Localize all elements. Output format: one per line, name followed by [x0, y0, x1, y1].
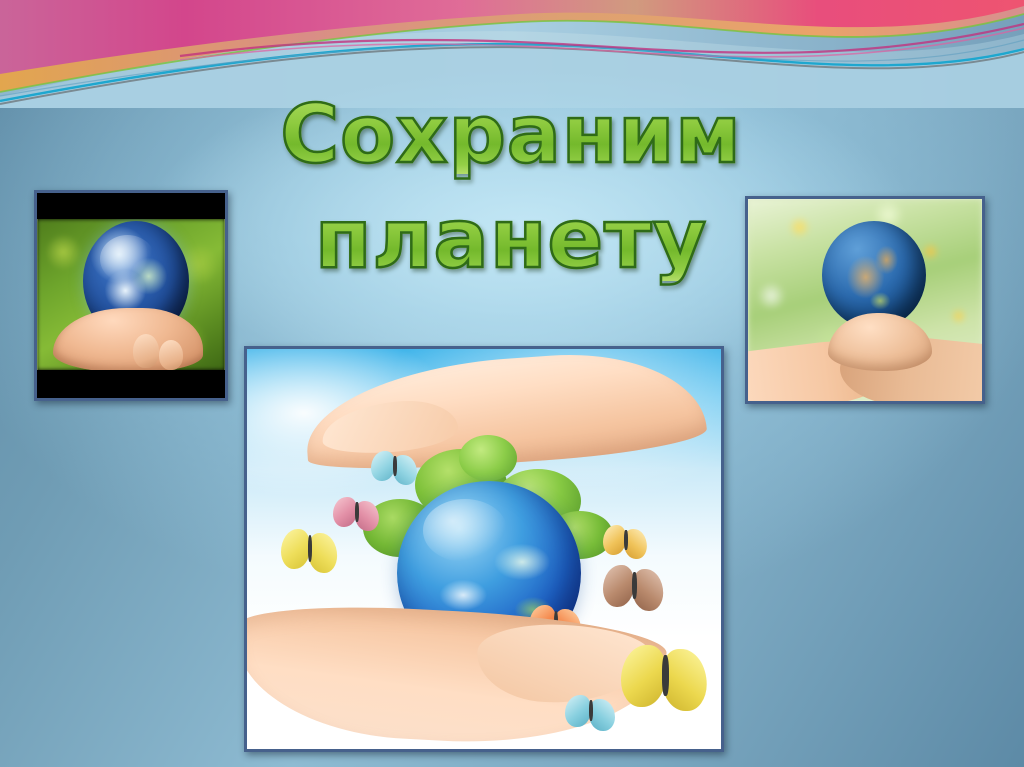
butterfly-icon	[603, 565, 663, 607]
butterfly-wing	[308, 533, 337, 573]
butterfly-icon	[621, 645, 707, 707]
butterfly-body	[589, 700, 593, 721]
photo-two-hands-holding-globe[interactable]	[745, 196, 985, 404]
finger-shape	[133, 334, 159, 368]
butterfly-wing	[565, 695, 591, 727]
photo-earth-in-hand[interactable]	[34, 190, 228, 401]
butterfly-body	[624, 530, 628, 550]
butterfly-icon	[565, 695, 615, 727]
photo-hands-protecting-globe-content	[247, 349, 721, 749]
butterfly-wing	[603, 525, 626, 555]
presentation-slide: Сохраним планету	[0, 0, 1024, 767]
butterfly-wing	[371, 451, 395, 481]
butterfly-body	[632, 572, 637, 600]
finger-shape	[159, 340, 183, 370]
butterfly-wing	[621, 645, 666, 707]
letterbox-bar-bottom	[37, 370, 225, 398]
photo-hands-protecting-globe[interactable]	[244, 346, 724, 752]
butterfly-wing	[603, 565, 634, 607]
butterfly-body	[662, 655, 669, 696]
butterfly-icon	[603, 525, 647, 555]
butterfly-icon	[281, 529, 337, 569]
butterfly-body	[355, 502, 359, 522]
letterbox-bar-top	[37, 193, 225, 219]
butterfly-wing	[333, 497, 357, 527]
tree-icon	[459, 435, 517, 481]
butterfly-wing	[281, 529, 310, 569]
butterfly-icon	[333, 497, 379, 527]
photo-two-hands-content	[748, 199, 982, 401]
butterfly-body	[393, 456, 397, 476]
butterfly-icon	[371, 451, 417, 481]
photo-earth-in-hand-content	[37, 193, 225, 398]
